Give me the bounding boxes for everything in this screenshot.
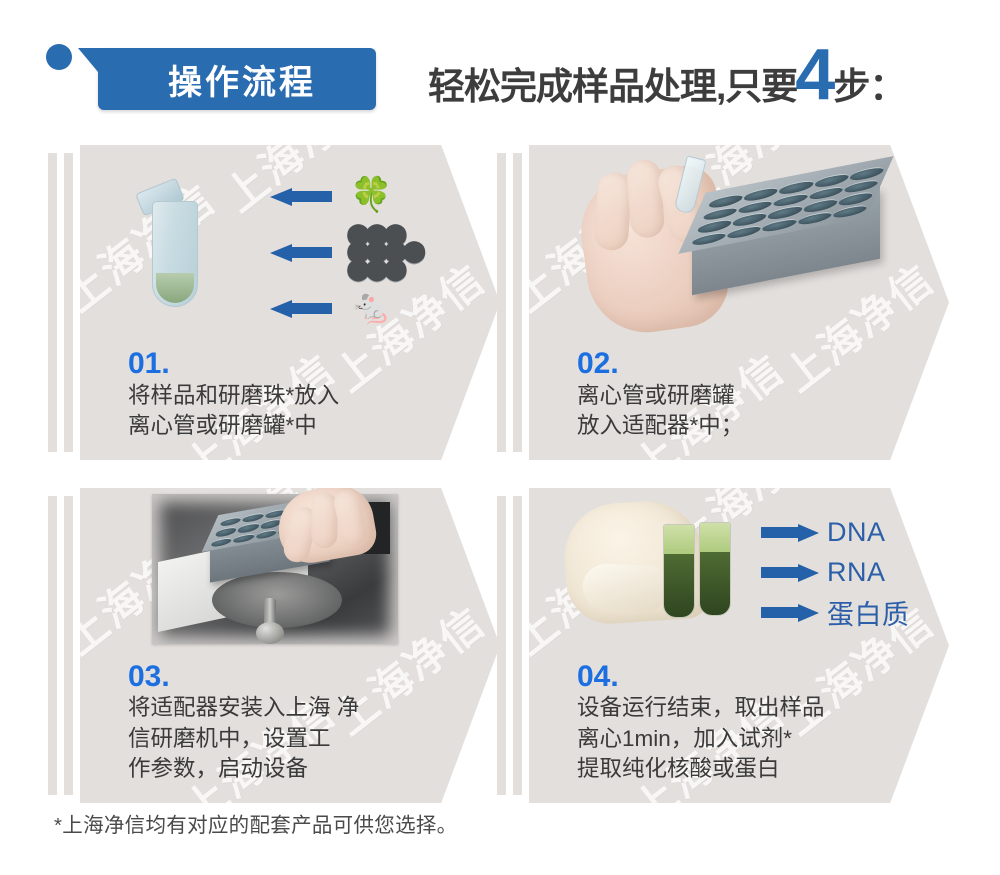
arrow-left-icon [270,300,332,315]
step-card-02: 上海净信 上海净信 上海净信 上海净信 [497,145,949,460]
step-card-body: 上海净信 上海净信 上海净信 上海净信 [529,488,949,803]
output-label: RNA [827,557,886,588]
step-01-illustration: 🍀 ⬤⬤⬤⬤⬤⬤⬤⬤⬤⬤ 🐁 [120,157,460,342]
accent-bar [513,153,522,452]
headline-step-count: 4 [795,47,835,105]
output-row-dna: DNA [761,512,931,552]
step-number: 04. [577,661,825,693]
step-03-text: 03. 将适配器安装入上海 净 信研磨机中，设置工 作参数，启动设备 [128,661,359,785]
leaf-icon: 🍀 [350,178,392,212]
step-description-line: 作参数，启动设备 [128,754,359,785]
step-description-line: 提取纯化核酸或蛋白 [577,754,825,785]
step-description-line: 放入适配器*中； [577,411,743,442]
accent-bar [513,496,522,795]
steps-grid: 上海净信 上海净信 上海净信 上海净信 🍀 [0,140,1000,795]
output-row-rna: RNA [761,552,931,592]
arrow-right-icon [761,604,819,620]
step-description-line: 将适配器安装入上海 净 [128,693,359,724]
step-02-photo [584,153,914,353]
banner-label: 操作流程 [98,48,376,110]
machine-knob [256,622,284,644]
step-card-body: 上海净信 上海净信 上海净信 上海净信 🍀 [80,145,500,460]
sample-vial-icon [699,522,731,616]
step-description-line: 离心管或研磨罐 [577,381,743,412]
step-description-line: 设备运行结束，取出样品 [577,693,825,724]
step-04-text: 04. 设备运行结束，取出样品 离心1min，加入试剂* 提取纯化核酸或蛋白 [577,661,825,785]
dot-icon [46,44,72,70]
accent-bar [48,153,57,452]
input-row-leaf: 🍀 [270,171,460,219]
accent-bar [48,496,57,795]
output-label: DNA [827,517,886,548]
step-card-03: 上海净信 上海净信 上海净信 上海净信 [48,488,500,803]
headline-suffix: 步： [833,56,905,110]
step-description-line: 离心1min，加入试剂* [577,724,825,755]
accent-bar [497,496,506,795]
step-04-photo: DNA RNA 蛋白质 [565,498,925,668]
step-card-body: 上海净信 上海净信 上海净信 上海净信 [80,488,500,803]
step-card-04: 上海净信 上海净信 上海净信 上海净信 [497,488,949,803]
step-card-01: 上海净信 上海净信 上海净信 上海净信 🍀 [48,145,500,460]
accent-bar [64,153,73,452]
page-headline: 轻松完成样品处理,只要 4 步： [428,47,905,117]
steel-beads-icon: ⬤⬤⬤⬤⬤⬤⬤⬤⬤⬤ [346,225,420,278]
accent-bar [497,153,506,452]
output-label: 蛋白质 [827,593,910,632]
section-banner: 操作流程 [98,48,376,110]
arrow-right-icon [761,524,819,540]
step-description-line: 离心管或研磨罐*中 [128,411,339,442]
step-01-text: 01. 将样品和研磨珠*放入 离心管或研磨罐*中 [128,348,339,442]
accent-bar [64,496,73,795]
hand-icon [272,488,379,568]
output-list: DNA RNA 蛋白质 [761,512,931,632]
footnote: *上海净信均有对应的配套产品可供您选择。 [54,808,457,838]
arrow-right-icon [761,564,819,580]
step-description-line: 将样品和研磨珠*放入 [128,381,339,412]
sample-vial-icon [663,524,695,618]
machine-rotor [212,572,342,628]
page-header: 操作流程 轻松完成样品处理,只要 4 步： [0,0,1000,135]
step-card-body: 上海净信 上海净信 上海净信 上海净信 [529,145,949,460]
step-03-photo [152,494,398,644]
step-number: 01. [128,348,339,380]
arrow-left-icon [270,244,332,259]
input-row-beads: ⬤⬤⬤⬤⬤⬤⬤⬤⬤⬤ [270,227,460,275]
step-number: 02. [577,348,743,380]
mouse-icon: 🐁 [350,290,392,324]
input-row-mouse: 🐁 [270,283,460,331]
step-02-text: 02. 离心管或研磨罐 放入适配器*中； [577,348,743,442]
output-row-protein: 蛋白质 [761,592,931,632]
centrifuge-tube-icon [152,185,198,307]
headline-prefix: 轻松完成样品处理,只要 [428,56,797,110]
arrow-left-icon [270,188,332,203]
step-number: 03. [128,661,359,693]
step-description-line: 信研磨机中，设置工 [128,724,359,755]
